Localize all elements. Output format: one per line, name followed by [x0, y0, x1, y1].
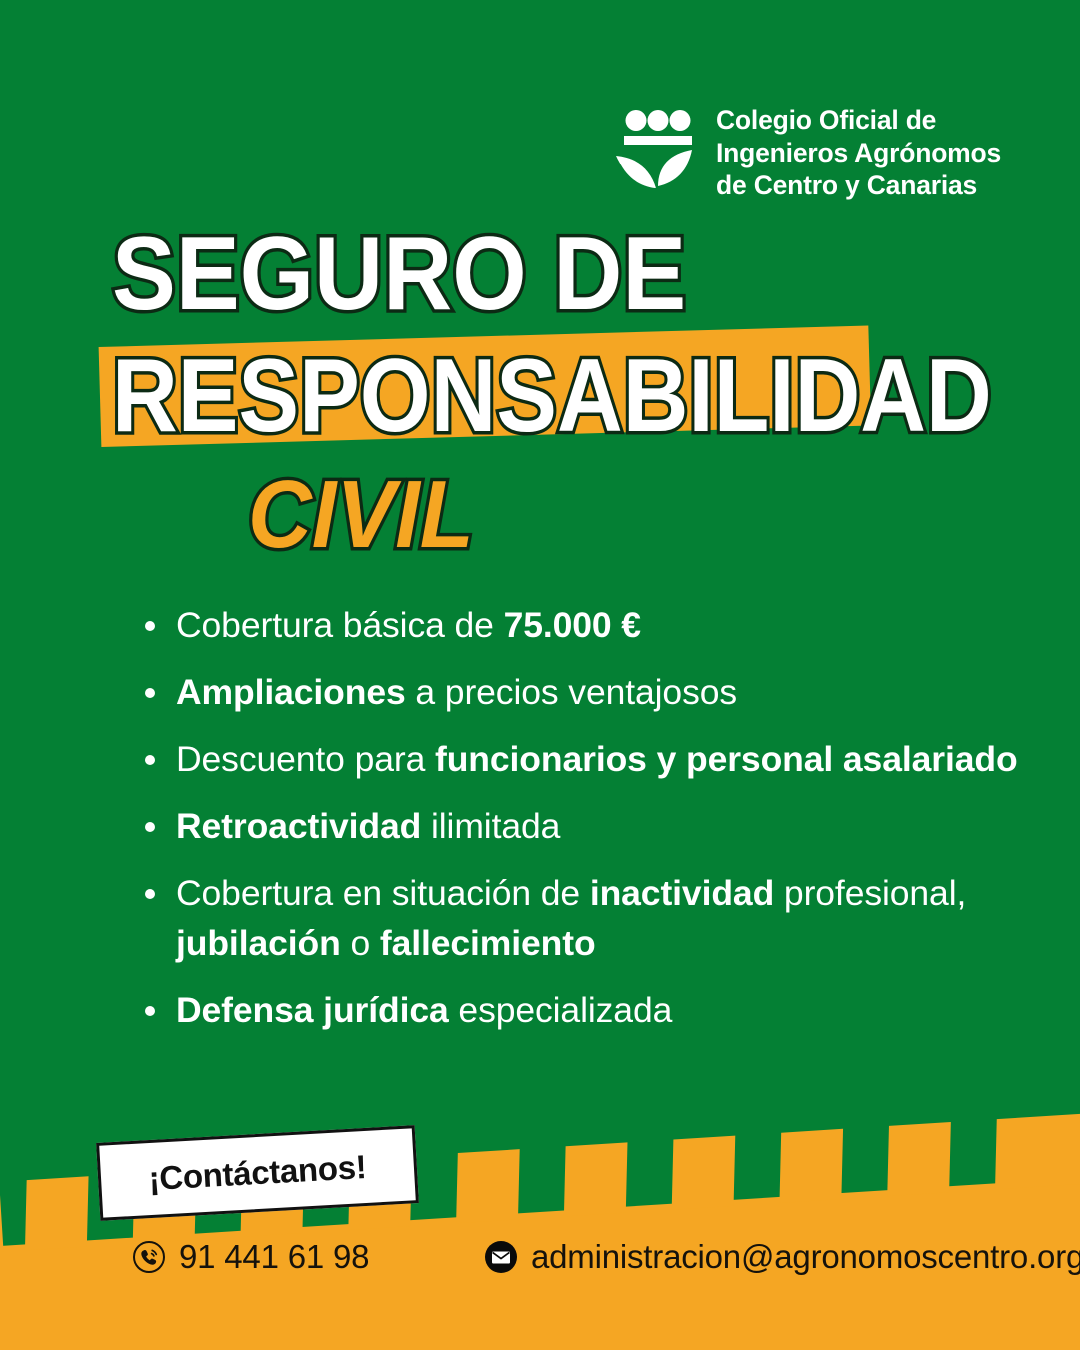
- benefit-text: a precios ventajosos: [406, 672, 737, 712]
- benefit-item: Defensa jurídica especializada: [138, 985, 1018, 1035]
- benefit-text: especializada: [449, 990, 673, 1030]
- benefits-list: Cobertura básica de 75.000 €Ampliaciones…: [138, 600, 1018, 1052]
- headline-line-3: CIVIL: [248, 467, 474, 563]
- organization-logo: Colegio Oficial de Ingenieros Agrónomos …: [612, 104, 1001, 202]
- benefit-emphasis: fallecimiento: [380, 923, 596, 963]
- benefit-text: Cobertura en situación de: [176, 873, 590, 913]
- agronomos-plant-emblem-icon: [612, 108, 698, 188]
- contact-label-text: ¡Contáctanos!: [148, 1148, 368, 1198]
- contact-phone[interactable]: 91 441 61 98: [132, 1238, 484, 1276]
- headline-block: SEGURO DE RESPONSABILIDAD CIVIL: [0, 222, 1080, 582]
- benefit-text: o: [341, 923, 380, 963]
- benefit-item: Descuento para funcionarios y personal a…: [138, 734, 1018, 784]
- benefit-text: Descuento para: [176, 739, 435, 779]
- benefit-emphasis: funcionarios y personal asalariado: [435, 739, 1018, 779]
- envelope-icon: [484, 1240, 518, 1274]
- benefit-item: Retroactividad ilimitada: [138, 801, 1018, 851]
- poster-canvas: Colegio Oficial de Ingenieros Agrónomos …: [0, 0, 1080, 1350]
- benefit-emphasis: Defensa jurídica: [176, 990, 449, 1030]
- phone-number-text: 91 441 61 98: [179, 1238, 369, 1276]
- benefit-emphasis: jubilación: [176, 923, 341, 963]
- benefit-emphasis: Ampliaciones: [176, 672, 406, 712]
- organization-name: Colegio Oficial de Ingenieros Agrónomos …: [716, 104, 1001, 202]
- benefit-emphasis: Retroactividad: [176, 806, 421, 846]
- headline-line-2: RESPONSABILIDAD: [112, 344, 992, 448]
- benefit-text: Cobertura básica de: [176, 605, 504, 645]
- organization-line-3: de Centro y Canarias: [716, 169, 1001, 202]
- phone-ringing-icon: [132, 1240, 166, 1274]
- email-address-text: administracion@agronomoscentro.org: [531, 1238, 1080, 1276]
- benefit-text: ilimitada: [421, 806, 560, 846]
- benefit-text: profesional,: [774, 873, 966, 913]
- organization-line-2: Ingenieros Agrónomos: [716, 137, 1001, 170]
- benefit-emphasis: 75.000 €: [504, 605, 641, 645]
- benefit-item: Ampliaciones a precios ventajosos: [138, 667, 1018, 717]
- contact-email[interactable]: administracion@agronomoscentro.org: [484, 1238, 1080, 1276]
- benefit-emphasis: inactividad: [590, 873, 774, 913]
- benefit-item: Cobertura en situación de inactividad pr…: [138, 868, 1018, 968]
- contact-row: 91 441 61 98 administracion@agronomoscen…: [132, 1238, 1080, 1276]
- headline-line-1: SEGURO DE: [112, 222, 686, 326]
- contact-label-badge: ¡Contáctanos!: [96, 1125, 419, 1221]
- organization-line-1: Colegio Oficial de: [716, 104, 1001, 137]
- benefit-item: Cobertura básica de 75.000 €: [138, 600, 1018, 650]
